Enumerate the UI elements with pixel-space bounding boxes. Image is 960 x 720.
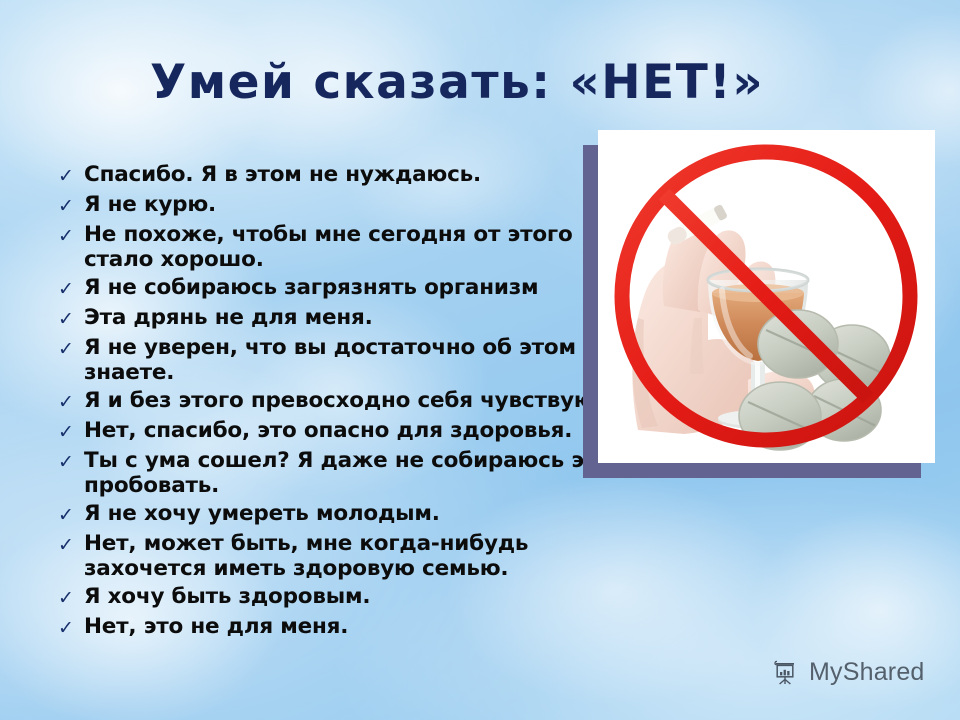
watermark-label: MyShared: [809, 658, 925, 687]
picture-canvas: [598, 130, 935, 463]
check-icon: ✓: [58, 192, 84, 219]
check-icon: ✓: [58, 335, 84, 362]
check-icon: ✓: [58, 531, 84, 558]
list-item-label: Я и без этого превосходно себя чувствую.: [84, 388, 618, 413]
list-item: ✓ Нет, это не для меня.: [58, 614, 618, 641]
list-item: ✓ Эта дрянь не для меня.: [58, 305, 618, 332]
check-icon: ✓: [58, 501, 84, 528]
list-item-label: Я не собираюсь загрязнять организм: [84, 275, 618, 300]
list-item-label: Я хочу быть здоровым.: [84, 584, 618, 609]
list-item-label: Я не уверен, что вы достаточно об этом з…: [84, 335, 618, 385]
list-item: ✓ Я не собираюсь загрязнять организм: [58, 275, 618, 302]
list-item: ✓ Я не хочу умереть молодым.: [58, 501, 618, 528]
myshared-watermark: MyShared: [772, 658, 925, 687]
no-bad-habits-illustration: [598, 130, 935, 463]
list-item-label: Я не курю.: [84, 192, 618, 217]
list-item-label: Нет, спасибо, это опасно для здоровья.: [84, 418, 618, 443]
slide-title: Умей сказать: «НЕТ!»: [150, 57, 850, 109]
check-icon: ✓: [58, 162, 84, 189]
slide-canvas: Умей сказать: «НЕТ!» ✓ Спасибо. Я в этом…: [0, 0, 960, 720]
check-icon: ✓: [58, 448, 84, 475]
list-item: ✓ Нет, может быть, мне когда-нибудь захо…: [58, 531, 618, 581]
refusal-phrases-list: ✓ Спасибо. Я в этом не нуждаюсь. ✓ Я не …: [58, 162, 618, 644]
list-item: ✓ Я не уверен, что вы достаточно об этом…: [58, 335, 618, 385]
list-item-label: Не похоже, чтобы мне сегодня от этого ст…: [84, 222, 618, 272]
check-icon: ✓: [58, 275, 84, 302]
list-item: ✓ Не похоже, чтобы мне сегодня от этого …: [58, 222, 618, 272]
list-item: ✓ Спасибо. Я в этом не нуждаюсь.: [58, 162, 618, 189]
check-icon: ✓: [58, 614, 84, 641]
illustration-block: [583, 130, 935, 478]
list-item: ✓ Ты с ума сошел? Я даже не собираюсь эт…: [58, 448, 618, 498]
check-icon: ✓: [58, 418, 84, 445]
list-item-label: Спасибо. Я в этом не нуждаюсь.: [84, 162, 618, 187]
check-icon: ✓: [58, 584, 84, 611]
presentation-board-icon: [772, 659, 800, 687]
list-item-label: Нет, это не для меня.: [84, 614, 618, 639]
list-item: ✓ Нет, спасибо, это опасно для здоровья.: [58, 418, 618, 445]
list-item: ✓ Я и без этого превосходно себя чувству…: [58, 388, 618, 415]
check-icon: ✓: [58, 222, 84, 249]
list-item: ✓ Я хочу быть здоровым.: [58, 584, 618, 611]
list-item-label: Нет, может быть, мне когда-нибудь захоче…: [84, 531, 618, 581]
check-icon: ✓: [58, 388, 84, 415]
list-item-label: Я не хочу умереть молодым.: [84, 501, 618, 526]
list-item-label: Эта дрянь не для меня.: [84, 305, 618, 330]
list-item-label: Ты с ума сошел? Я даже не собираюсь это …: [84, 448, 618, 498]
list-item: ✓ Я не курю.: [58, 192, 618, 219]
check-icon: ✓: [58, 305, 84, 332]
